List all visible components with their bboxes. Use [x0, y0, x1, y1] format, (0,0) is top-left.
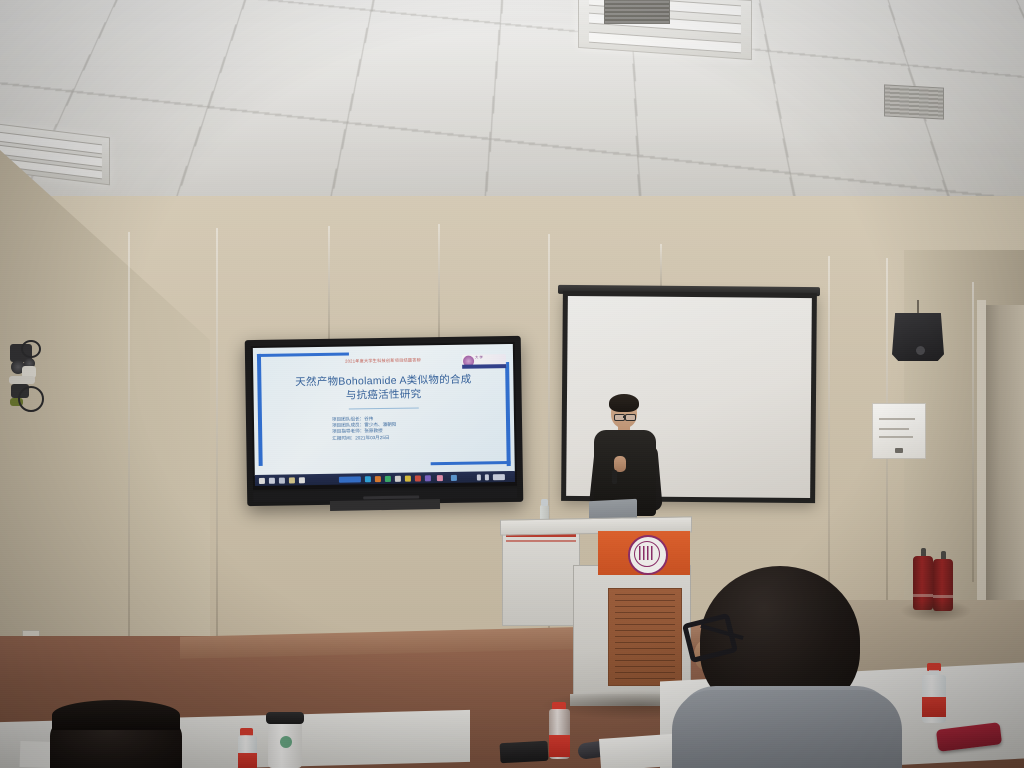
sanitizer-pump-icon	[541, 499, 548, 506]
podium-accent-stripe	[506, 540, 576, 542]
bottle-label	[549, 735, 570, 757]
app-icon[interactable]	[415, 475, 421, 481]
app-icon[interactable]	[437, 475, 443, 481]
app-icon[interactable]	[395, 475, 401, 481]
app-icon[interactable]	[339, 476, 361, 482]
clock[interactable]	[493, 474, 505, 480]
panel-button[interactable]	[895, 448, 903, 453]
university-seal	[628, 535, 668, 575]
wall-camera	[8, 340, 42, 410]
water-bottle[interactable]	[238, 735, 257, 768]
presentation-clicker[interactable]	[612, 470, 617, 484]
slide-border-top	[257, 353, 349, 357]
wall-panel-seam	[972, 282, 974, 582]
eyeglasses-bridge-icon	[623, 416, 626, 418]
water-bottle[interactable]	[549, 709, 570, 759]
start-icon[interactable]	[259, 477, 265, 483]
app-icon[interactable]	[375, 476, 381, 482]
smart-display[interactable]: 2021年度大学生科技创新项目结题答辩 大 学 天然产物Boholamide A…	[245, 336, 524, 506]
presentation-slide: 2021年度大学生科技创新项目结题答辩 大 学 天然产物Boholamide A…	[253, 344, 515, 476]
seal-glyph-icon	[639, 546, 653, 560]
folder-icon[interactable]	[289, 477, 295, 483]
podium-side-shelf	[502, 528, 580, 626]
slide-border-left	[257, 354, 263, 466]
bottle-label	[922, 697, 946, 717]
wall-panel-seam	[828, 256, 830, 616]
bottle-label	[238, 753, 257, 768]
display-screen[interactable]: 2021年度大学生科技创新项目结题答辩 大 学 天然产物Boholamide A…	[251, 342, 517, 490]
thermos-lid[interactable]	[266, 712, 304, 724]
display-wall-mount	[330, 499, 440, 511]
water-bottle[interactable]	[922, 675, 946, 723]
wood-grain-texture	[615, 594, 675, 680]
thermos-logo-icon	[280, 736, 292, 748]
app-icon[interactable]	[299, 477, 305, 483]
mobile-phone[interactable]	[500, 741, 549, 763]
attendee-hair-left	[52, 700, 180, 730]
logo-subtext-bar	[462, 364, 506, 369]
app-icon[interactable]	[425, 475, 431, 481]
search-icon[interactable]	[269, 477, 275, 483]
slide-title: 天然产物Boholamide A类似物的合成 与抗癌活性研究	[263, 372, 503, 404]
slide-divider	[349, 407, 419, 409]
podium-wood-panel	[608, 588, 682, 686]
app-icon[interactable]	[405, 475, 411, 481]
slide-meta-block: 项目团队组长：谷伟 项目团队成员：雷少杰、潘朝阳 项目指导老师：张原教授 汇报时…	[332, 414, 502, 441]
app-icon[interactable]	[385, 475, 391, 481]
wall-panel-seam	[216, 228, 218, 648]
wall-panel-seam	[438, 224, 440, 342]
wall-control-panel[interactable]	[872, 403, 926, 459]
app-icon[interactable]	[451, 474, 457, 480]
slide-border-right	[505, 362, 511, 466]
speaker-cone-icon	[916, 346, 925, 355]
tray-icon[interactable]	[477, 474, 481, 480]
task-view-icon[interactable]	[279, 477, 285, 483]
podium-banner	[598, 531, 690, 575]
lecture-room-photo: 2021年度大学生科技创新项目结题答辩 大 学 天然产物Boholamide A…	[0, 0, 1024, 768]
slide-border-bottom	[431, 461, 511, 465]
seated-attendee-body	[672, 690, 902, 768]
wall-panel-seam	[328, 226, 330, 346]
logo-text: 大 学	[475, 355, 483, 360]
object-shadow	[900, 600, 972, 622]
app-icon[interactable]	[365, 476, 371, 482]
tray-icon[interactable]	[485, 474, 489, 480]
presenter-hair	[609, 394, 639, 412]
presenter-eyeglasses	[625, 414, 636, 421]
institution-logo: 大 学	[462, 354, 506, 369]
wall-panel-seam	[128, 232, 130, 662]
speaker-wire	[917, 300, 919, 315]
